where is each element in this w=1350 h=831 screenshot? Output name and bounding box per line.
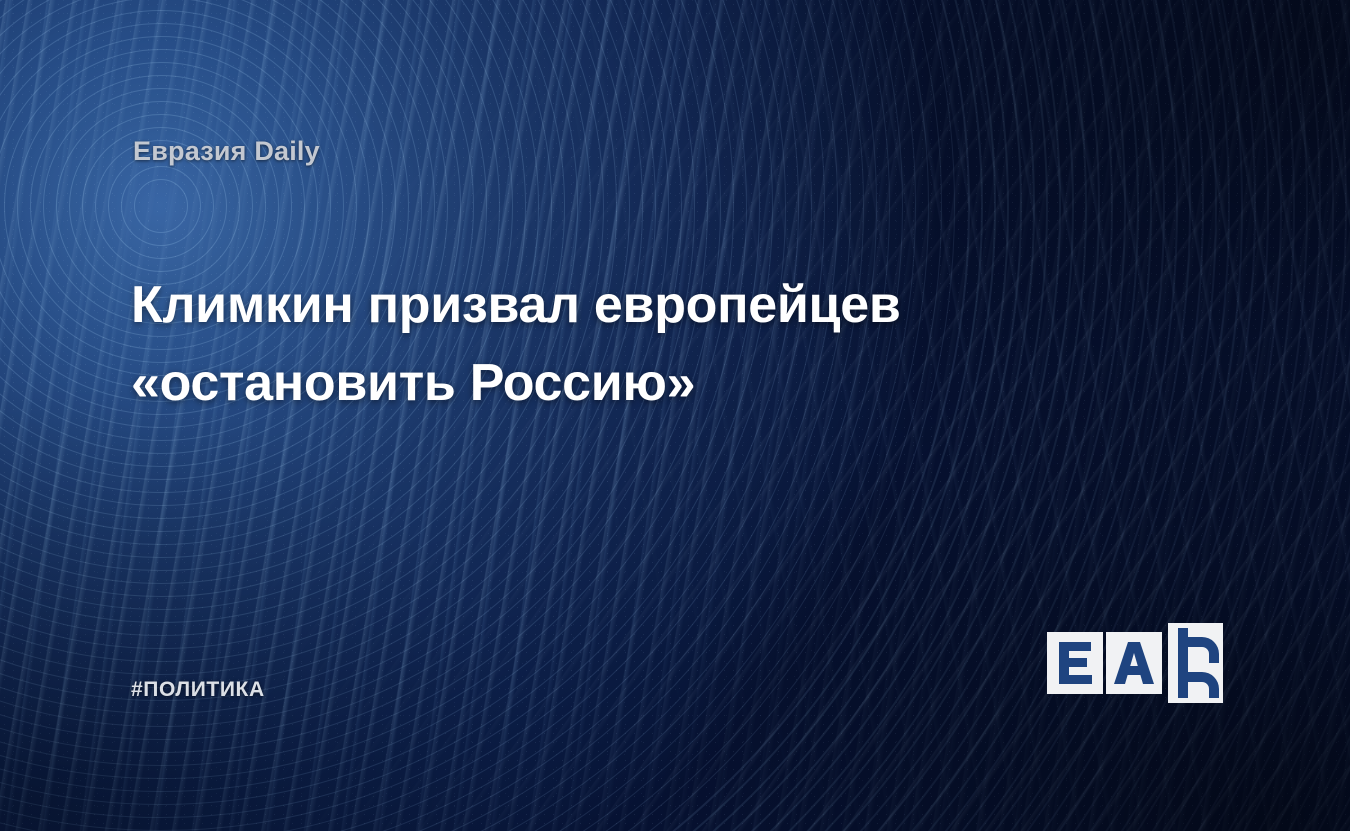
article-share-card: Евразия Daily Климкин призвал европейцев… xyxy=(0,0,1350,831)
headline-line-1: Климкин призвал европейцев xyxy=(131,266,1011,344)
letter-a-icon xyxy=(1106,632,1162,694)
card-content: Евразия Daily Климкин призвал европейцев… xyxy=(0,0,1350,831)
category-tag[interactable]: #ПОЛИТИКА xyxy=(131,678,265,702)
headline-line-2: «остановить Россию» xyxy=(131,344,1011,422)
letter-d-bottom-icon xyxy=(1168,663,1223,703)
site-name: Евразия Daily xyxy=(133,136,320,167)
letter-e-icon xyxy=(1047,632,1103,694)
eadaily-logo[interactable] xyxy=(1047,623,1223,703)
headline: Климкин призвал европейцев «остановить Р… xyxy=(131,266,1011,422)
letter-d-top-icon xyxy=(1168,623,1223,663)
